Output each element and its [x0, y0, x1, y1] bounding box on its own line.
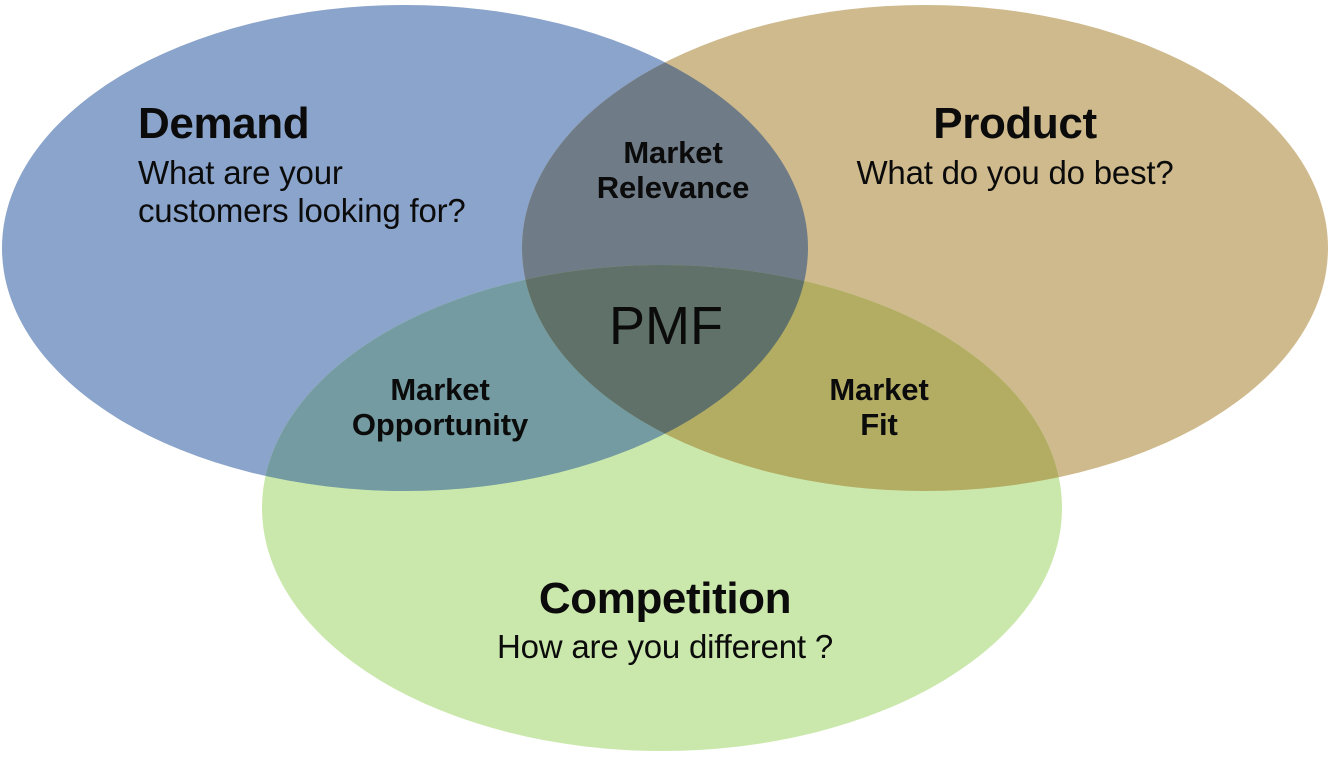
intersection-label-market-fit-line2: Fit	[790, 407, 968, 442]
set-label-product: Product What do you do best?	[820, 99, 1210, 192]
set-description-demand: What are your customers looking for?	[138, 154, 468, 229]
set-title-competition: Competition	[440, 574, 890, 624]
center-label-pmf: PMF	[576, 296, 756, 358]
intersection-label-market-relevance: Market Relevance	[563, 135, 783, 206]
intersection-label-market-opportunity-line2: Opportunity	[320, 407, 560, 442]
set-description-competition: How are you different ?	[440, 628, 890, 666]
intersection-label-market-opportunity-line1: Market	[320, 372, 560, 407]
set-label-competition: Competition How are you different ?	[440, 574, 890, 666]
intersection-label-market-fit: Market Fit	[790, 372, 968, 443]
set-label-demand: Demand What are your customers looking f…	[138, 99, 468, 229]
set-description-product: What do you do best?	[820, 154, 1210, 192]
set-title-demand: Demand	[138, 99, 468, 149]
intersection-label-market-relevance-line2: Relevance	[563, 170, 783, 205]
intersection-label-market-fit-line1: Market	[790, 372, 968, 407]
set-title-product: Product	[820, 99, 1210, 149]
intersection-label-market-opportunity: Market Opportunity	[320, 372, 560, 443]
intersection-label-market-relevance-line1: Market	[563, 135, 783, 170]
venn-diagram-canvas: Demand What are your customers looking f…	[0, 0, 1332, 763]
